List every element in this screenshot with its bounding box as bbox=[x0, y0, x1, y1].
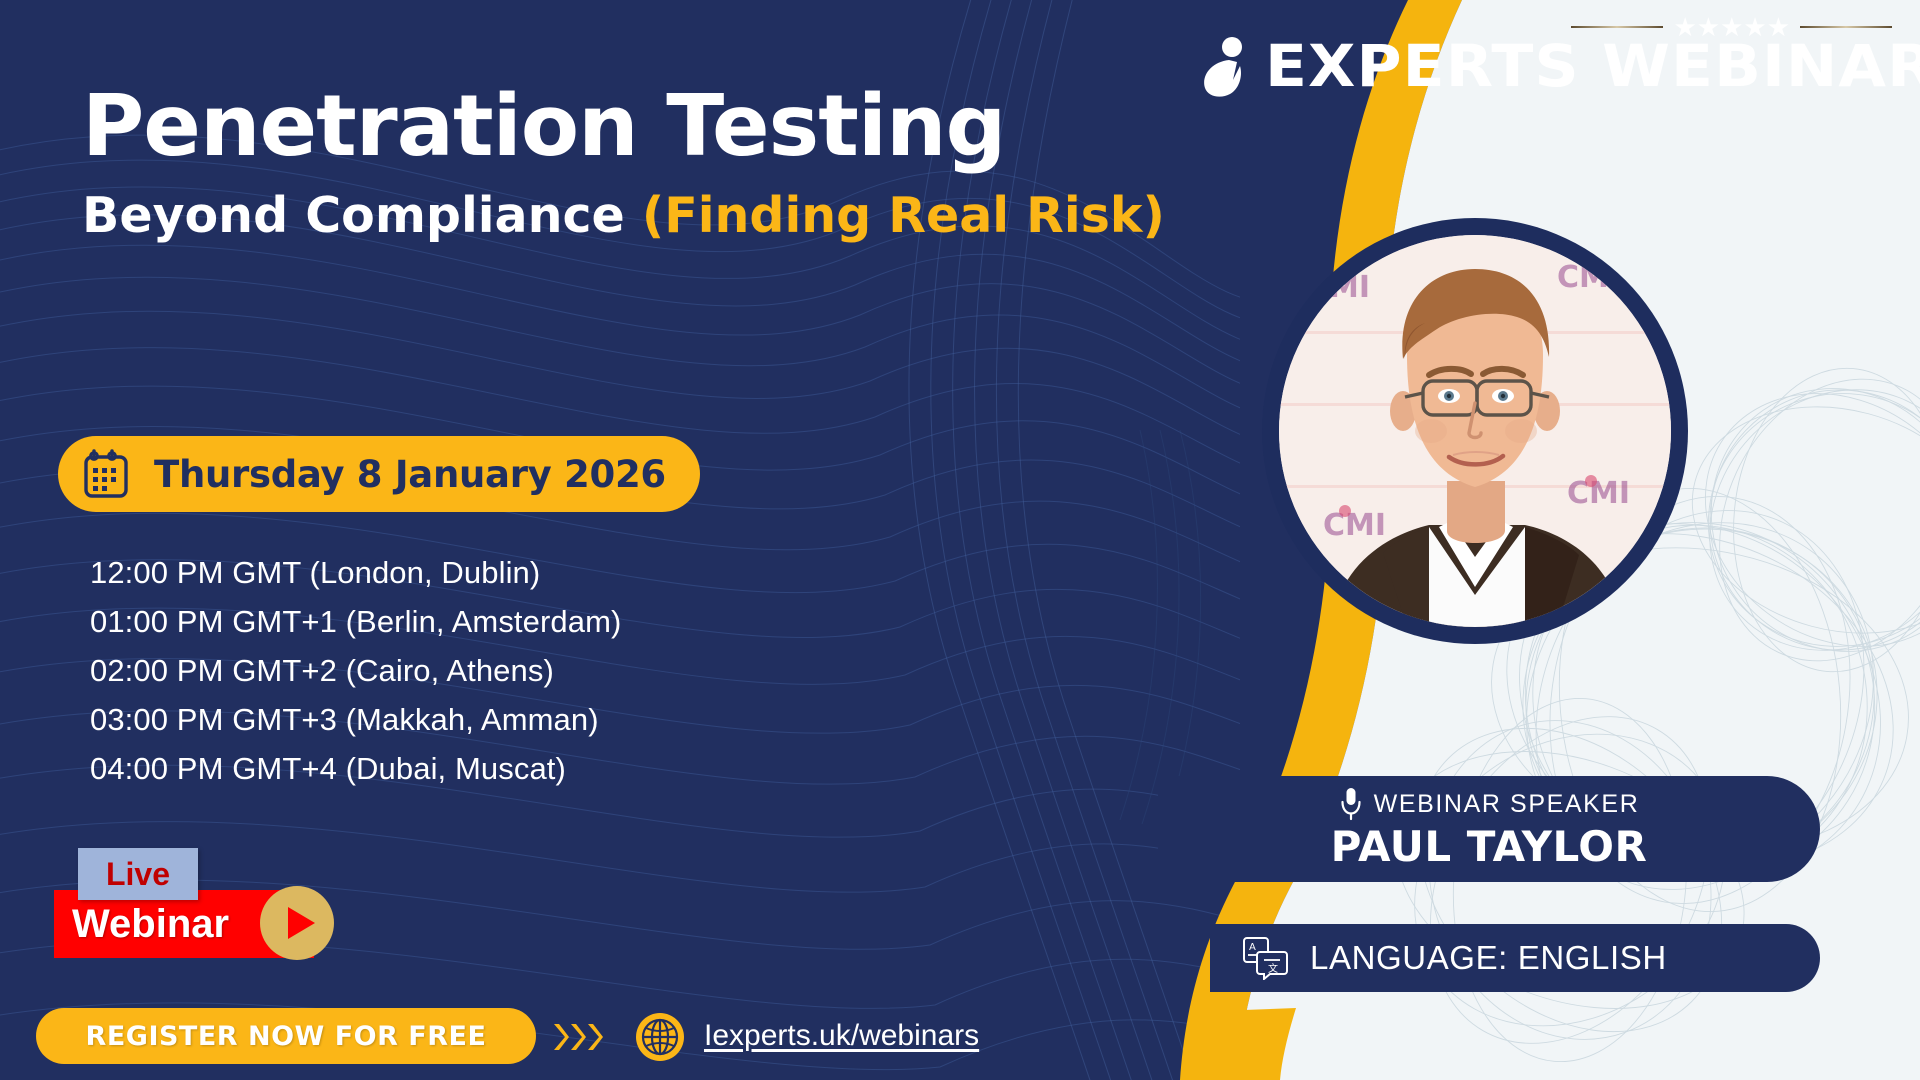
brand-logo: ★★★★★ EXPERTS WEBINAR bbox=[1199, 14, 1898, 98]
webinar-poster: ★★★★★ EXPERTS WEBINAR Penetration Testin… bbox=[0, 0, 1920, 1080]
speaker-role-row: WEBINAR SPEAKER bbox=[1339, 787, 1640, 821]
logo-rule-right bbox=[1800, 26, 1892, 28]
logo-rule-left bbox=[1571, 26, 1663, 28]
webinar-label: Webinar bbox=[72, 902, 229, 947]
svg-text:CMI: CMI bbox=[1323, 508, 1386, 543]
timezone-list: 12:00 PM GMT (London, Dublin) 01:00 PM G… bbox=[90, 548, 621, 793]
language-bar: A 文 LANGUAGE: ENGLISH bbox=[1210, 924, 1820, 992]
globe-icon-wrapper bbox=[635, 1012, 685, 1062]
calendar-icon bbox=[84, 448, 134, 500]
globe-icon bbox=[635, 1012, 685, 1062]
speaker-name: PAUL TAYLOR bbox=[1331, 822, 1648, 871]
svg-text:文: 文 bbox=[1268, 962, 1278, 975]
microphone-icon bbox=[1339, 787, 1363, 821]
logo-text: EXPERTS WEBINAR bbox=[1265, 39, 1920, 94]
chevron-group bbox=[552, 1022, 603, 1052]
register-button-label: REGISTER NOW FOR FREE bbox=[86, 1021, 487, 1052]
register-button[interactable]: REGISTER NOW FOR FREE bbox=[36, 1008, 536, 1064]
yellow-notch bbox=[1232, 1008, 1296, 1080]
page-subtitle: Beyond Compliance (Finding Real Risk) bbox=[82, 191, 1165, 240]
live-badge: Live bbox=[78, 848, 198, 900]
play-icon bbox=[288, 907, 315, 939]
chevron-right-icon bbox=[552, 1022, 569, 1052]
chevron-right-icon bbox=[586, 1022, 603, 1052]
page-title: Penetration Testing bbox=[82, 84, 1165, 169]
webinar-url-link[interactable]: Iexperts.uk/webinars bbox=[704, 1019, 979, 1053]
logo-wordmark: EXPERTS WEBINAR bbox=[1199, 36, 1898, 98]
speaker-info-bar: WEBINAR SPEAKER PAUL TAYLOR bbox=[1158, 776, 1820, 882]
chevron-right-icon bbox=[569, 1022, 586, 1052]
speaker-headshot-illustration: CMI CM CMI CMI bbox=[1279, 235, 1671, 627]
headline-block: Penetration Testing Beyond Compliance (F… bbox=[82, 84, 1165, 240]
svg-text:A: A bbox=[1249, 942, 1256, 953]
svg-text:CMI: CMI bbox=[1567, 476, 1630, 511]
date-badge: Thursday 8 January 2026 bbox=[58, 436, 700, 512]
timezone-item: 01:00 PM GMT+1 (Berlin, Amsterdam) bbox=[90, 597, 621, 646]
timezone-item: 02:00 PM GMT+2 (Cairo, Athens) bbox=[90, 646, 621, 695]
timezone-item: 03:00 PM GMT+3 (Makkah, Amman) bbox=[90, 695, 621, 744]
subtitle-white-part: Beyond Compliance bbox=[82, 187, 625, 244]
language-label: LANGUAGE: ENGLISH bbox=[1310, 939, 1667, 977]
subtitle-accent-part: (Finding Real Risk) bbox=[642, 187, 1165, 244]
date-label: Thursday 8 January 2026 bbox=[154, 453, 666, 496]
live-label: Live bbox=[106, 856, 170, 893]
speaker-role-label: WEBINAR SPEAKER bbox=[1374, 790, 1640, 819]
timezone-item: 12:00 PM GMT (London, Dublin) bbox=[90, 548, 621, 597]
translate-icon: A 文 bbox=[1242, 936, 1288, 980]
play-button[interactable] bbox=[260, 886, 334, 960]
speaker-photo: CMI CM CMI CMI bbox=[1279, 235, 1671, 627]
timezone-item: 04:00 PM GMT+4 (Dubai, Muscat) bbox=[90, 744, 621, 793]
i-person-mark-icon bbox=[1199, 36, 1259, 98]
